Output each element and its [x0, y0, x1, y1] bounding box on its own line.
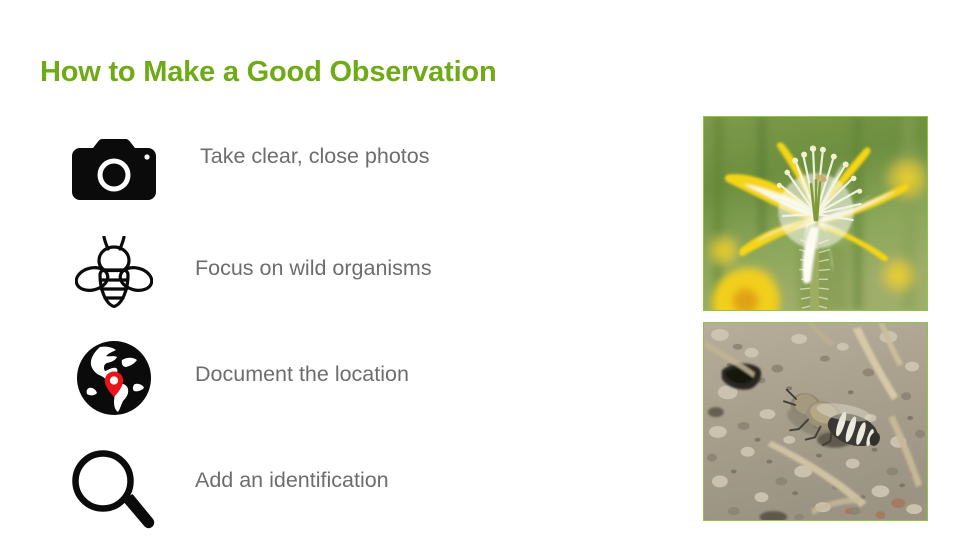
list-item-label: Document the location: [195, 362, 409, 387]
page-title: How to Make a Good Observation: [40, 56, 496, 89]
list-item: Take clear, close photos: [0, 118, 640, 224]
camera-icon: [66, 128, 162, 212]
flower-photo: [703, 116, 928, 311]
tips-list: Take clear, close photos: [0, 118, 640, 542]
globe-pin-icon: [66, 336, 162, 420]
list-item: Document the location: [0, 330, 640, 436]
list-item: Add an identification: [0, 436, 640, 542]
list-item-label: Take clear, close photos: [200, 144, 429, 169]
magnifying-glass-icon: [66, 448, 162, 532]
list-item-label: Add an identification: [195, 468, 389, 493]
bee-photo: [703, 322, 928, 521]
list-item: Focus on wild organisms: [0, 224, 640, 330]
list-item-label: Focus on wild organisms: [195, 256, 432, 281]
bee-icon: [66, 230, 162, 314]
slide-canvas: How to Make a Good Observation Take clea…: [0, 0, 960, 540]
